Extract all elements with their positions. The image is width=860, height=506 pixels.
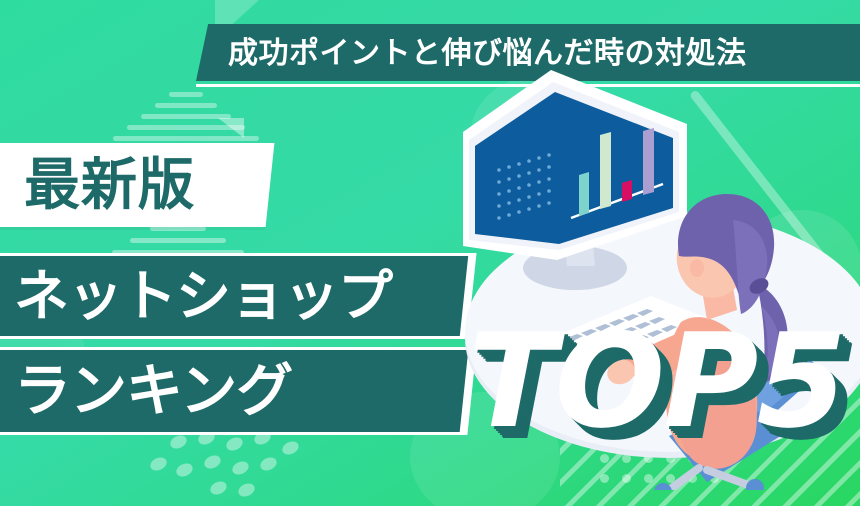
- title-line-1: 最新版: [24, 150, 284, 222]
- title-line-2: ネットショップ: [14, 261, 484, 331]
- title-line-3: ランキング: [14, 355, 484, 427]
- dot-cluster-left: [150, 432, 330, 498]
- triangle-icon-1: [218, 118, 244, 138]
- poster-canvas: 成功ポイントと伸び悩んだ時の対処法 最新版 ネットショップ ランキング TOP5: [0, 0, 860, 506]
- rank-badge-top5: TOP5: [468, 316, 845, 446]
